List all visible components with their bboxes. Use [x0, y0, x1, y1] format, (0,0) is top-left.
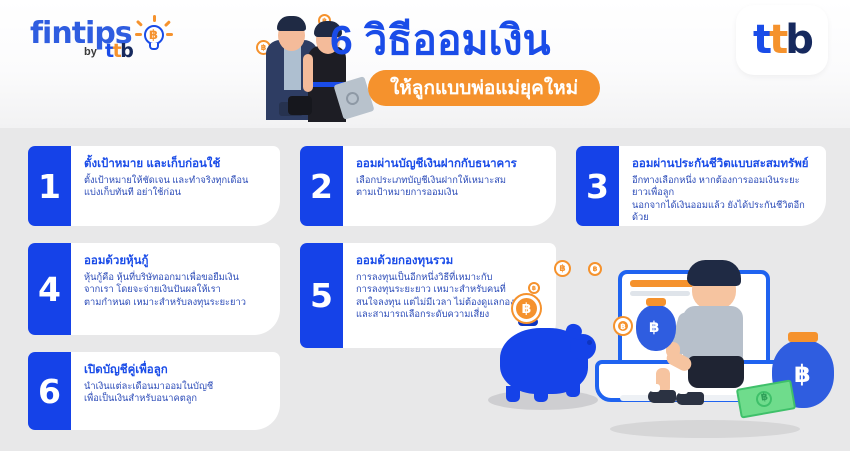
tip-line: เลือกประเภทบัญชีเงินฝากให้เหมาะสม: [356, 174, 544, 186]
tip-line: นอกจากได้เงินออมแล้ว ยังได้ประกันชีวิตอี…: [632, 199, 814, 224]
tip-card-1[interactable]: 1 ตั้งเป้าหมาย และเก็บก่อนใช้ ตั้งเป้าหม…: [28, 146, 280, 226]
tip-card-6[interactable]: 6 เปิดบัญชีคู่เพื่อลูก นำเงินแต่ละเดือนม…: [28, 352, 280, 430]
tip-number: 1: [28, 146, 71, 226]
tip-card-2[interactable]: 2 ออมผ่านบัญชีเงินฝากกับธนาคาร เลือกประเ…: [300, 146, 556, 226]
tip-line: ตั้งเป้าหมายให้ชัดเจน และทำจริงทุกเดือน: [84, 174, 268, 186]
tip-line: เพื่อเป็นเงินสำหรับอนาคตลูก: [84, 392, 268, 404]
tip-line: แบ่งเก็บทันที อย่าใช้ก่อน: [84, 186, 268, 198]
tip-title: ตั้งเป้าหมาย และเก็บก่อนใช้: [84, 157, 268, 172]
coin-icon: ฿: [528, 282, 540, 294]
header-banner: fintips by ttb ฿ ฿ ฿: [0, 0, 850, 128]
tip-content: ออมผ่านประกันชีวิตแบบสะสมทรัพย์ อีกทางเล…: [619, 146, 826, 226]
tip-line: นำเงินแต่ละเดือนมาออมในบัญชี: [84, 380, 268, 392]
laptop-shadow: [610, 420, 800, 438]
page-subtitle: ให้ลูกแบบพ่อแม่ยุคใหม่: [390, 73, 578, 103]
ttb-letter-b: b: [120, 40, 132, 62]
tip-content: เปิดบัญชีคู่เพื่อลูก นำเงินแต่ละเดือนมาอ…: [71, 352, 280, 430]
fintips-logo: fintips by ttb ฿: [26, 10, 166, 70]
subtitle-pill: ให้ลูกแบบพ่อแม่ยุคใหม่: [368, 70, 600, 106]
tip-title: ออมผ่านประกันชีวิตแบบสะสมทรัพย์: [632, 157, 814, 172]
tip-line: หุ้นกู้คือ หุ้นที่บริษัทออกมาเพื่อขอยืมเ…: [84, 271, 268, 283]
tip-line: จากเรา โดยจะจ่ายเงินปันผลให้เรา: [84, 283, 268, 295]
tip-line: ตามกำหนด เหมาะสำหรับลงทุนระยะยาว: [84, 296, 268, 308]
tip-content: ออมผ่านบัญชีเงินฝากกับธนาคาร เลือกประเภท…: [343, 146, 556, 226]
tip-number: 5: [300, 243, 343, 348]
tip-number: 6: [28, 352, 71, 430]
screen-bar: [630, 291, 690, 296]
tip-title: เปิดบัญชีคู่เพื่อลูก: [84, 363, 268, 378]
ttb-logo-badge: ttb: [736, 5, 828, 75]
tip-card-4[interactable]: 4 ออมด้วยหุ้นกู้ หุ้นกู้คือ หุ้นที่บริษั…: [28, 243, 280, 335]
tip-line: อีกทางเลือกหนึ่ง หากต้องการออมเงินระยะยา…: [632, 174, 814, 199]
ttb-letter-t1: t: [105, 40, 113, 62]
tip-number: 3: [576, 146, 619, 226]
tip-title: ออมด้วยหุ้นกู้: [84, 254, 268, 269]
tip-title: ออมผ่านบัญชีเงินฝากกับธนาคาร: [356, 157, 544, 172]
baht-symbol: ฿: [794, 360, 811, 388]
page-title: 6 วิธีออมเงิน: [330, 14, 710, 66]
coin-icon: ฿: [513, 295, 540, 322]
header-title-group: 6 วิธีออมเงิน ให้ลูกแบบพ่อแม่ยุคใหม่: [330, 12, 710, 120]
ttb-badge-t1: t: [753, 17, 769, 63]
ttb-badge-b: b: [785, 17, 811, 63]
ttb-badge-wordmark: ttb: [753, 17, 811, 63]
coin-icon: ฿: [615, 318, 631, 334]
tip-number: 4: [28, 243, 71, 335]
coin-icon: ฿: [588, 262, 602, 276]
tip-card-3[interactable]: 3 ออมผ่านประกันชีวิตแบบสะสมทรัพย์ อีกทาง…: [576, 146, 826, 226]
tip-content: ออมด้วยหุ้นกู้ หุ้นกู้คือ หุ้นที่บริษัทอ…: [71, 243, 280, 335]
fintips-by-label: by: [84, 46, 97, 58]
ttb-badge-t2: t: [769, 17, 785, 63]
coin-icon: ฿: [554, 260, 571, 277]
savings-illustration: ฿ ฿ ฿ ฿ ฿ ฿: [470, 250, 850, 451]
infographic-page: fintips by ttb ฿ ฿ ฿: [0, 0, 850, 451]
tip-content: ตั้งเป้าหมาย และเก็บก่อนใช้ ตั้งเป้าหมาย…: [71, 146, 280, 226]
tip-line: ตามเป้าหมายการออมเงิน: [356, 186, 544, 198]
fintips-ttb-wordmark: ttb: [105, 40, 132, 62]
baht-symbol: ฿: [649, 318, 659, 336]
tip-number: 2: [300, 146, 343, 226]
baht-symbol: ฿: [149, 28, 158, 43]
lightbulb-icon: ฿: [136, 17, 170, 55]
